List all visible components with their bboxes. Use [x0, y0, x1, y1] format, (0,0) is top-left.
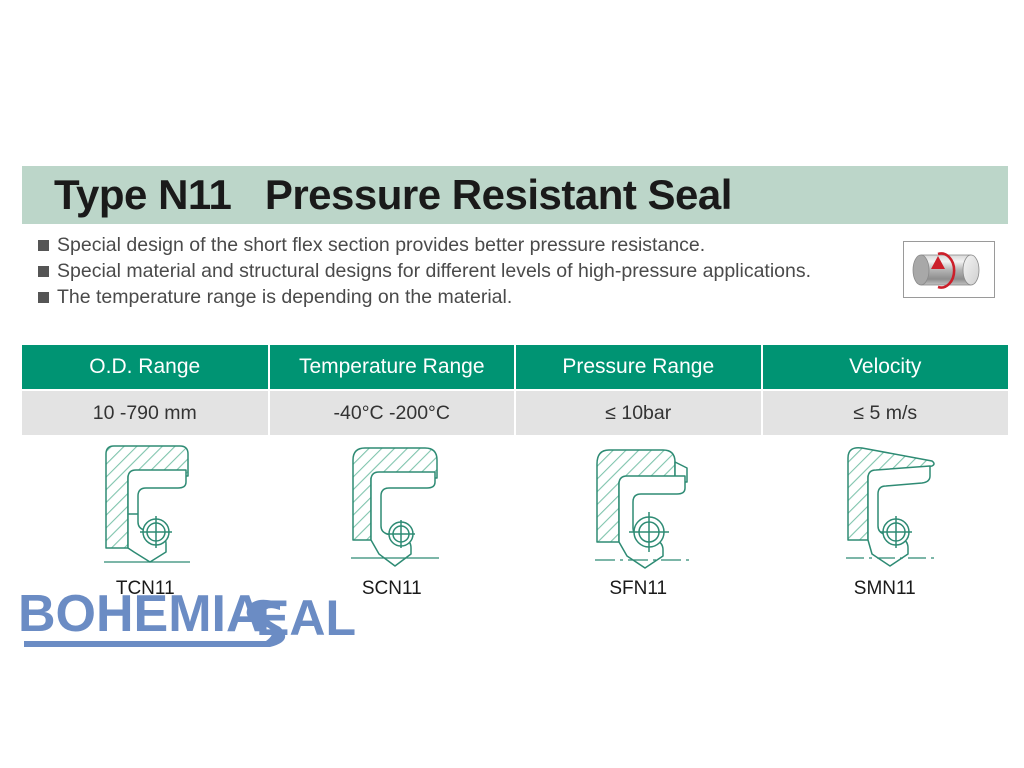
list-item: Special design of the short flex section… [38, 232, 878, 258]
feature-text: Special material and structural designs … [57, 258, 878, 284]
cell-temperature-range: -40°C -200°C [269, 390, 516, 435]
cell-od-range: 10 -790 mm [22, 390, 269, 435]
seal-label: SMN11 [854, 578, 916, 600]
column-header-pressure-range: Pressure Range [515, 345, 762, 390]
rotating-shaft-graphic [904, 242, 994, 297]
list-item: The temperature range is depending on th… [38, 284, 878, 310]
table-row: 10 -790 mm -40°C -200°C ≤ 10bar ≤ 5 m/s [22, 390, 1008, 435]
title-banner: Type N11 Pressure Resistant Seal [22, 166, 1008, 224]
seal-cross-section-smn11 [810, 436, 960, 576]
seal-diagram-strip: TCN11 SCN11 [22, 436, 1008, 611]
seal-label: TCN11 [116, 578, 175, 600]
rotating-shaft-icon [903, 241, 995, 298]
seal-cross-section-sfn11 [563, 436, 713, 576]
seal-diagram-scn11: SCN11 [269, 436, 516, 611]
spec-table: O.D. Range Temperature Range Pressure Ra… [22, 345, 1008, 435]
seal-diagram-sfn11: SFN11 [515, 436, 762, 611]
square-bullet-icon [38, 266, 49, 277]
table-header-row: O.D. Range Temperature Range Pressure Ra… [22, 345, 1008, 390]
column-header-od-range: O.D. Range [22, 345, 269, 390]
feature-text: The temperature range is depending on th… [57, 284, 878, 310]
page-title: Type N11 Pressure Resistant Seal [22, 171, 732, 219]
list-item: Special material and structural designs … [38, 258, 878, 284]
square-bullet-icon [38, 240, 49, 251]
seal-label: SFN11 [609, 578, 667, 600]
cell-velocity: ≤ 5 m/s [762, 390, 1009, 435]
column-header-temperature-range: Temperature Range [269, 345, 516, 390]
seal-diagram-smn11: SMN11 [762, 436, 1009, 611]
seal-diagram-tcn11: TCN11 [22, 436, 269, 611]
feature-list: Special design of the short flex section… [38, 232, 878, 310]
seal-label: SCN11 [362, 578, 422, 600]
square-bullet-icon [38, 292, 49, 303]
seal-cross-section-scn11 [317, 436, 467, 576]
column-header-velocity: Velocity [762, 345, 1009, 390]
cell-pressure-range: ≤ 10bar [515, 390, 762, 435]
feature-text: Special design of the short flex section… [57, 232, 878, 258]
seal-cross-section-tcn11 [70, 436, 220, 576]
